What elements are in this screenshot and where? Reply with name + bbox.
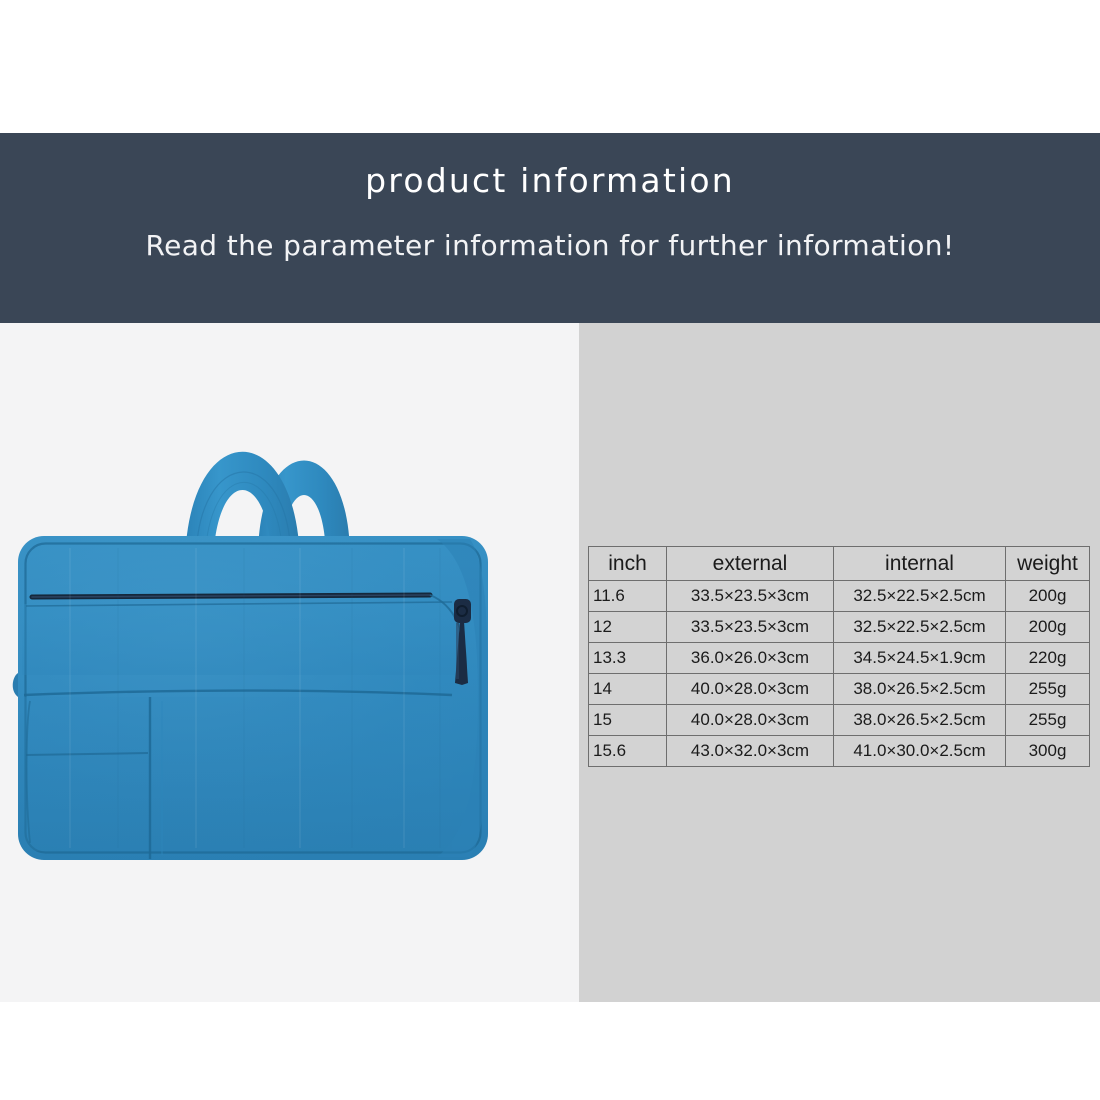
cell-inch: 15.6 <box>589 736 667 767</box>
page-title: product information <box>0 161 1100 200</box>
table-row: 15.6 43.0×32.0×3cm 41.0×30.0×2.5cm 300g <box>589 736 1090 767</box>
column-header-weight: weight <box>1006 547 1090 581</box>
cell-internal: 38.0×26.5×2.5cm <box>834 674 1006 705</box>
column-header-external: external <box>667 547 834 581</box>
cell-weight: 255g <box>1006 705 1090 736</box>
cell-weight: 200g <box>1006 612 1090 643</box>
spec-table-container: inch external internal weight 11.6 33.5×… <box>588 546 1089 767</box>
product-information-page: product information Read the parameter i… <box>0 0 1100 1100</box>
cell-weight: 300g <box>1006 736 1090 767</box>
cell-external: 43.0×32.0×3cm <box>667 736 834 767</box>
product-image-panel <box>0 323 579 1002</box>
bag-side-tab <box>13 673 18 697</box>
cell-inch: 15 <box>589 705 667 736</box>
cell-inch: 12 <box>589 612 667 643</box>
column-header-internal: internal <box>834 547 1006 581</box>
cell-internal: 32.5×22.5×2.5cm <box>834 581 1006 612</box>
bag-pocket-seams <box>24 691 452 860</box>
column-header-inch: inch <box>589 547 667 581</box>
table-row: 14 40.0×28.0×3cm 38.0×26.5×2.5cm 255g <box>589 674 1090 705</box>
cell-external: 36.0×26.0×3cm <box>667 643 834 674</box>
cell-external: 40.0×28.0×3cm <box>667 674 834 705</box>
cell-weight: 255g <box>1006 674 1090 705</box>
laptop-bag-illustration <box>0 323 579 1002</box>
cell-weight: 200g <box>1006 581 1090 612</box>
cell-inch: 11.6 <box>589 581 667 612</box>
cell-inch: 13.3 <box>589 643 667 674</box>
header-banner: product information Read the parameter i… <box>0 133 1100 323</box>
table-header-row: inch external internal weight <box>589 547 1090 581</box>
content-area: inch external internal weight 11.6 33.5×… <box>0 323 1100 1002</box>
specification-panel: inch external internal weight 11.6 33.5×… <box>579 323 1100 1002</box>
page-subtitle: Read the parameter information for furth… <box>0 229 1100 262</box>
cell-external: 40.0×28.0×3cm <box>667 705 834 736</box>
bag-top-zipper <box>32 595 430 597</box>
table-row: 12 33.5×23.5×3cm 32.5×22.5×2.5cm 200g <box>589 612 1090 643</box>
cell-internal: 41.0×30.0×2.5cm <box>834 736 1006 767</box>
specification-table: inch external internal weight 11.6 33.5×… <box>588 546 1090 767</box>
cell-internal: 38.0×26.5×2.5cm <box>834 705 1006 736</box>
cell-external: 33.5×23.5×3cm <box>667 581 834 612</box>
cell-weight: 220g <box>1006 643 1090 674</box>
cell-inch: 14 <box>589 674 667 705</box>
cell-internal: 32.5×22.5×2.5cm <box>834 612 1006 643</box>
table-row: 15 40.0×28.0×3cm 38.0×26.5×2.5cm 255g <box>589 705 1090 736</box>
table-row: 13.3 36.0×26.0×3cm 34.5×24.5×1.9cm 220g <box>589 643 1090 674</box>
table-row: 11.6 33.5×23.5×3cm 32.5×22.5×2.5cm 200g <box>589 581 1090 612</box>
cell-internal: 34.5×24.5×1.9cm <box>834 643 1006 674</box>
cell-external: 33.5×23.5×3cm <box>667 612 834 643</box>
